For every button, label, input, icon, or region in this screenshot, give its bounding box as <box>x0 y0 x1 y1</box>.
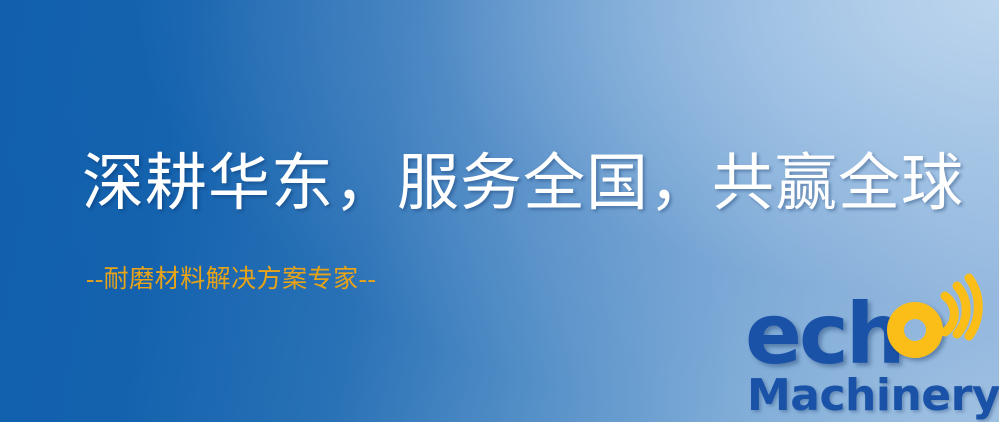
promo-banner: 深耕华东，服务全国，共赢全球 --耐磨材料解决方案专家-- ech Machin… <box>0 0 999 422</box>
logo-brand-text: ech <box>745 296 903 373</box>
banner-headline: 深耕华东，服务全国，共赢全球 <box>82 152 964 217</box>
logo-tagline-text: Machinery <box>747 370 999 421</box>
logo-tagline: Machinery® <box>747 370 999 421</box>
logo-wordmark: ech <box>745 296 903 374</box>
banner-subtitle: --耐磨材料解决方案专家-- <box>86 266 376 294</box>
logo-o-letter-group <box>887 302 963 378</box>
echo-machinery-logo: ech Machinery® <box>745 296 999 422</box>
signal-wave-icon <box>935 276 999 340</box>
